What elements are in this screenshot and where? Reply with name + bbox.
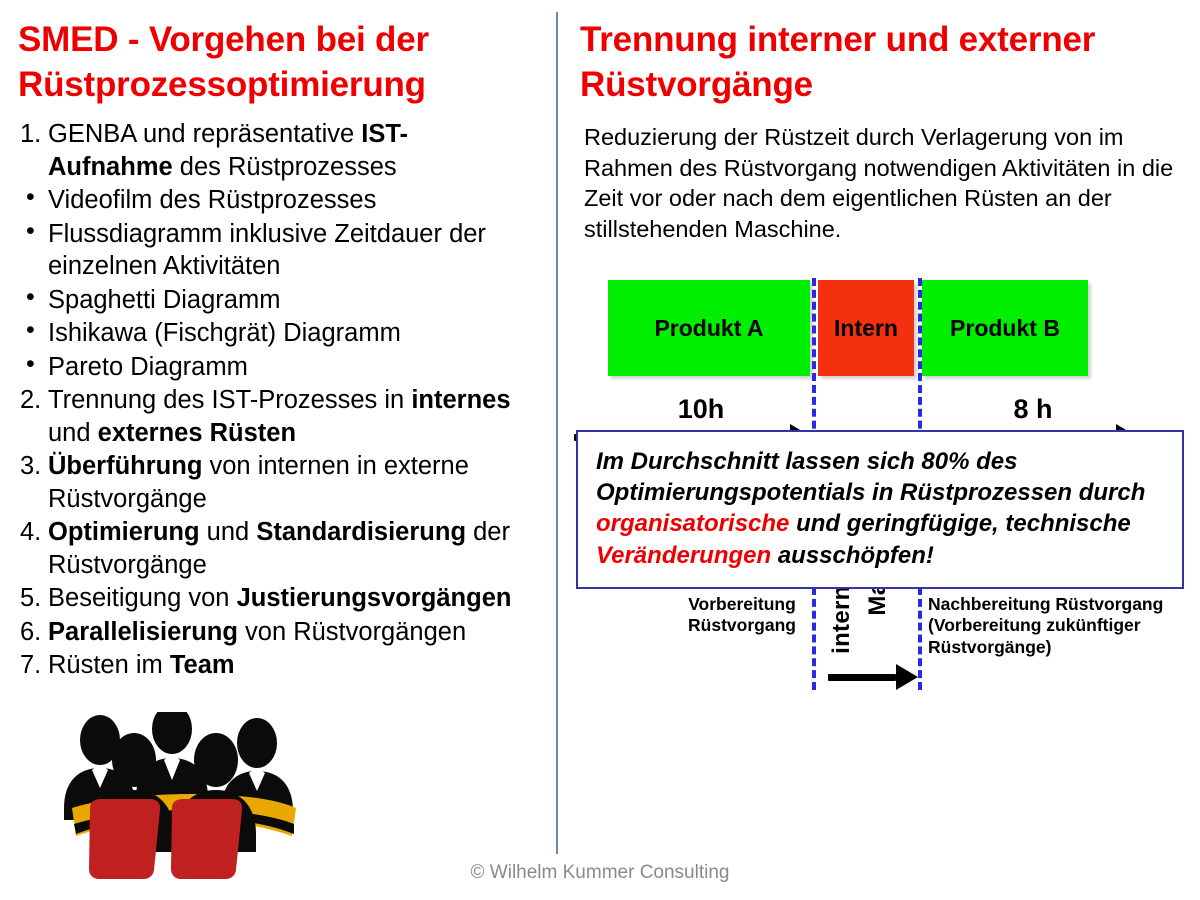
text-bold: Optimierung <box>48 518 200 546</box>
text-continuation: Rüstvorgänge <box>48 549 550 582</box>
text-bold: Aufnahme <box>48 153 173 181</box>
caption-postprocessing-right: Nachbereitung Rüstvorgang (Vorbereitung … <box>928 594 1190 658</box>
text-part: des Rüstprozesses <box>173 153 397 181</box>
list-item: 6. Parallelisierung von Rüstvorgängen <box>16 616 550 649</box>
text-bold: Team <box>170 651 235 679</box>
list-item-text: Spaghetti Diagramm <box>48 284 550 317</box>
box-intern: Intern <box>818 280 914 376</box>
list-item: 3. Überführung von internen in externeRü… <box>16 450 550 515</box>
list-item: • Flussdiagramm inklusive Zeitdauer der … <box>16 218 550 283</box>
label-time-left: 10h <box>656 394 746 425</box>
text-bold: IST- <box>361 120 408 148</box>
list-item-text: Parallelisierung von Rüstvorgängen <box>48 616 550 649</box>
list-item: 4. Optimierung und Standardisierung derR… <box>16 516 550 581</box>
list-marker: 2. <box>16 384 48 417</box>
list-bullet: • <box>16 284 48 312</box>
right-column: Trennung interner und externer Rüstvorgä… <box>556 0 1200 900</box>
list-item: 5. Beseitigung von Justierungsvorgängen <box>16 582 550 615</box>
list-marker: 1. <box>16 118 48 151</box>
list-bullet: • <box>16 351 48 379</box>
summary-highlight-2: Veränderungen <box>596 542 771 569</box>
summary-part-1: Im Durchschnitt lassen sich 80% des Opti… <box>596 448 1145 506</box>
list-item: 2. Trennung des IST-Prozesses in interne… <box>16 384 550 449</box>
list-item: • Pareto Diagramm <box>16 351 550 384</box>
text-bold: internes <box>411 386 510 414</box>
list-item-text: GENBA und repräsentative IST-Aufnahme de… <box>48 118 550 183</box>
list-item: • Spaghetti Diagramm <box>16 284 550 317</box>
list-item-text: Videofilm des Rüstprozesses <box>48 184 550 217</box>
list-item-text: Optimierung und Standardisierung derRüst… <box>48 516 550 581</box>
list-item-text: Flussdiagramm inklusive Zeitdauer der ei… <box>48 218 550 283</box>
text-continuation: und externes Rüsten <box>48 417 550 450</box>
list-item-text: Beseitigung von Justierungsvorgängen <box>48 582 550 615</box>
left-column: SMED - Vorgehen bei der Rüstprozessoptim… <box>0 0 556 900</box>
text-part: der <box>466 518 510 546</box>
team-meeting-icon <box>44 712 384 884</box>
list-item: 7. Rüsten im Team <box>16 649 550 682</box>
caption-preparation-left: Vorbereitung Rüstvorgang <box>674 594 810 637</box>
box-product-a: Produkt A <box>608 280 810 376</box>
footer-copyright: © Wilhelm Kummer Consulting <box>0 862 1200 884</box>
list-marker: 5. <box>16 582 48 615</box>
label-time-right: 8 h <box>988 394 1078 425</box>
list-item-text: Überführung von internen in externeRüstv… <box>48 450 550 515</box>
list-marker: 4. <box>16 516 48 549</box>
left-title: SMED - Vorgehen bei der Rüstprozessoptim… <box>18 18 538 108</box>
list-item-text: Pareto Diagramm <box>48 351 550 384</box>
text-bold: externes Rüsten <box>98 419 296 447</box>
summary-callout-box: Im Durchschnitt lassen sich 80% des Opti… <box>576 430 1184 589</box>
list-marker: 6. <box>16 616 48 649</box>
text-bold: Überführung <box>48 452 202 480</box>
text-bold: Parallelisierung <box>48 618 238 646</box>
text-part: und <box>48 419 98 447</box>
text-continuation: Aufnahme des Rüstprozesses <box>48 151 550 184</box>
summary-highlight-1: organisatorische <box>596 510 789 537</box>
text-part: GENBA und repräsentative <box>48 120 361 148</box>
text-part: Rüsten im <box>48 651 170 679</box>
text-bold: Justierungsvorgängen <box>237 584 512 612</box>
text-part: Beseitigung von <box>48 584 237 612</box>
smed-steps-list: 1. GENBA und repräsentative IST-Aufnahme… <box>16 118 550 683</box>
text-part: und <box>200 518 257 546</box>
list-item: • Videofilm des Rüstprozesses <box>16 184 550 217</box>
list-item-text: Ishikawa (Fischgrät) Diagramm <box>48 317 550 350</box>
text-part: von Rüstvorgängen <box>238 618 466 646</box>
text-bold: Standardisierung <box>256 518 466 546</box>
slide-root: SMED - Vorgehen bei der Rüstprozessoptim… <box>0 0 1200 900</box>
right-paragraph: Reduzierung der Rüstzeit durch Verlageru… <box>584 122 1192 244</box>
box-product-b: Produkt B <box>922 280 1088 376</box>
text-part: von internen in externe <box>202 452 469 480</box>
right-title: Trennung interner und externer Rüstvorgä… <box>580 18 1190 108</box>
list-bullet: • <box>16 218 48 246</box>
list-item: • Ishikawa (Fischgrät) Diagramm <box>16 317 550 350</box>
list-item: 1. GENBA und repräsentative IST-Aufnahme… <box>16 118 550 183</box>
list-marker: 7. <box>16 649 48 682</box>
summary-part-3: ausschöpfen! <box>771 542 934 569</box>
list-marker: 3. <box>16 450 48 483</box>
list-item-text: Trennung des IST-Prozesses in internesun… <box>48 384 550 449</box>
list-item-text: Rüsten im Team <box>48 649 550 682</box>
text-continuation: Rüstvorgänge <box>48 483 550 516</box>
text-part: Trennung des IST-Prozesses in <box>48 386 411 414</box>
list-bullet: • <box>16 184 48 212</box>
summary-part-2: und geringfügige, technische <box>789 510 1130 537</box>
list-bullet: • <box>16 317 48 345</box>
arrow-internal-setup <box>828 670 918 682</box>
